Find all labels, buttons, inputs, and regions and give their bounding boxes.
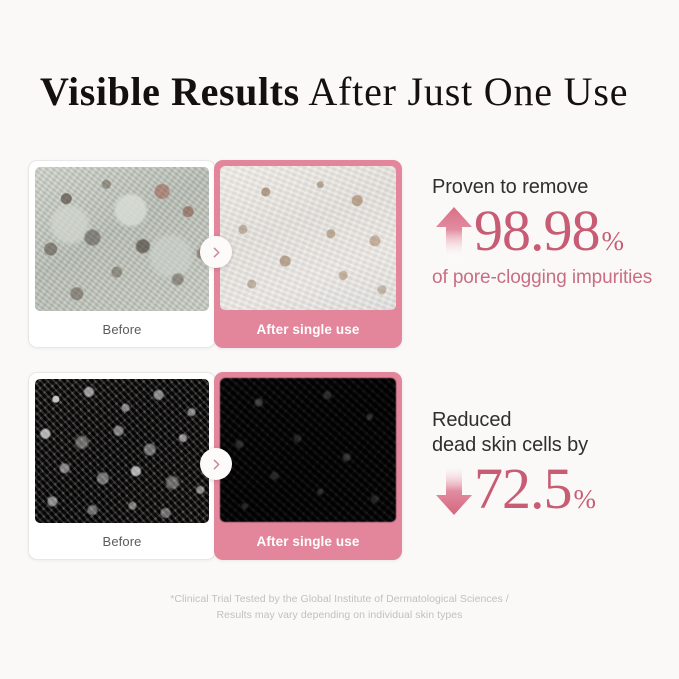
after-card-2[interactable]: After single use [214,372,402,560]
page-title-strong: Visible Results [40,69,300,114]
arrow-up-icon [432,202,476,260]
after-caption-1: After single use [214,310,402,348]
comparison-row-1: Before After single use [28,160,416,348]
after-image-1 [220,166,396,310]
stat-lead-2: Reduced dead skin cells by [432,408,672,458]
stat-figure-2: 72.5% [432,460,672,518]
footnote-line-1: *Clinical Trial Tested by the Global Ins… [0,591,679,607]
stat-figure-1: 98.98% [432,202,672,260]
arrow-down-icon [432,460,476,518]
before-image-1 [35,167,209,311]
chevron-right-icon[interactable] [200,448,232,480]
before-card-1[interactable]: Before [28,160,216,348]
before-caption-2: Before [29,523,215,559]
stat-percent-1: % [602,228,624,255]
after-caption-2: After single use [214,522,402,560]
after-card-1[interactable]: After single use [214,160,402,348]
stat-number-2: 72.5 [474,460,572,518]
stat-number-1: 98.98 [474,202,600,260]
chevron-right-icon[interactable] [200,236,232,268]
stat-lead-1: Proven to remove [432,175,672,200]
stat-percent-2: % [574,486,596,513]
stat-tail-1: of pore-clogging impurities [432,266,672,290]
before-caption-1: Before [29,311,215,347]
stat-block-impurities: Proven to remove 98.98% of pore-clogging… [432,175,672,290]
stat-block-dead-skin: Reduced dead skin cells by 72.5% [432,408,672,518]
before-image-2 [35,379,209,523]
footnote: *Clinical Trial Tested by the Global Ins… [0,591,679,623]
before-card-2[interactable]: Before [28,372,216,560]
stat-value-1: 98.98% [474,202,623,260]
stat-value-2: 72.5% [474,460,595,518]
after-image-2 [220,378,396,522]
comparison-row-2: Before After single use [28,372,416,560]
page-title-light: After Just One Use [300,69,628,114]
page-title: Visible Results After Just One Use [40,68,650,116]
footnote-line-2: Results may vary depending on individual… [0,607,679,623]
